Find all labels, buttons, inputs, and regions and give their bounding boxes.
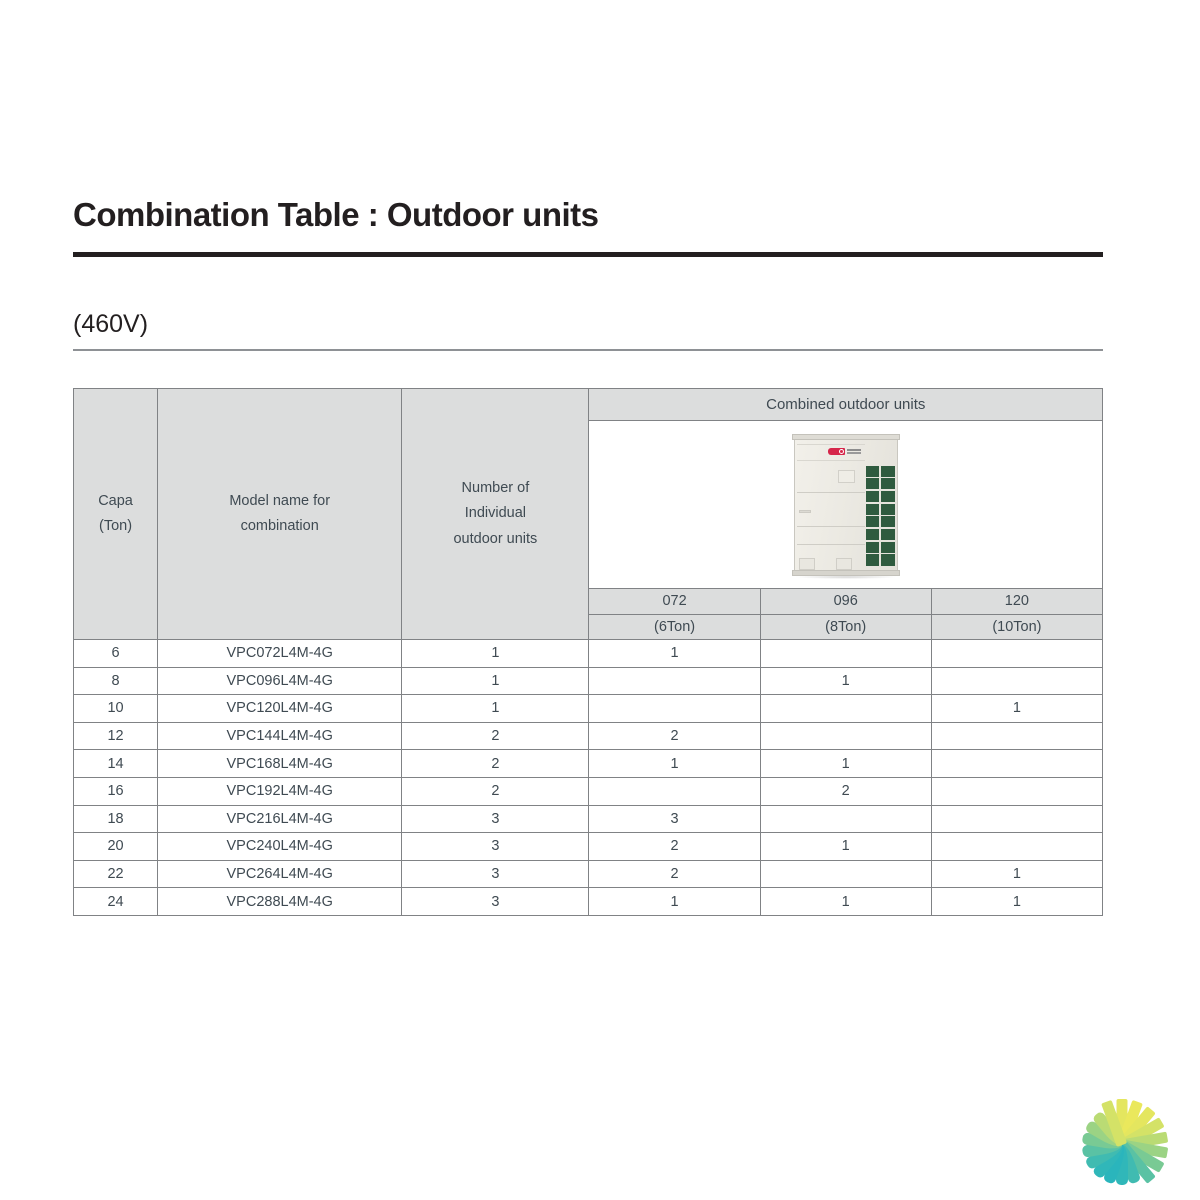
outdoor-unit-photo (790, 434, 902, 576)
unit-access-panel (838, 470, 855, 483)
unit-seam-2 (797, 460, 865, 461)
table-row: 14VPC168L4M-4G211 (74, 750, 1103, 778)
lennox-logo-icon (828, 448, 862, 455)
capacity-cell: 20 (74, 833, 158, 861)
number-label-line2: Individual (402, 501, 588, 526)
model-label-line1: Model name for (158, 489, 401, 514)
combo-072-cell: 2 (589, 722, 760, 750)
table-row: 24VPC288L4M-4G3111 (74, 888, 1103, 916)
voltage-subtitle: (460V) (73, 310, 148, 339)
table-row: 16VPC192L4M-4G22 (74, 777, 1103, 805)
combo-120-cell (931, 777, 1102, 805)
unit-count-cell: 3 (402, 833, 589, 861)
combo-120-cell (931, 805, 1102, 833)
combo-120-cell (931, 750, 1102, 778)
combo-096-cell (760, 860, 931, 888)
capacity-cell: 10 (74, 695, 158, 723)
table-row: 8VPC096L4M-4G11 (74, 667, 1103, 695)
unit-ton-072: (6Ton) (589, 614, 760, 640)
model-name-cell: VPC264L4M-4G (158, 860, 402, 888)
capacity-cell: 24 (74, 888, 158, 916)
unit-count-cell: 1 (402, 695, 589, 723)
column-header-combined-outdoor-units: Combined outdoor units (589, 389, 1103, 421)
unit-handle (799, 510, 811, 513)
table-row: 20VPC240L4M-4G321 (74, 833, 1103, 861)
capacity-cell: 8 (74, 667, 158, 695)
lennox-mark (828, 448, 845, 455)
table-head: Capa (Ton) Model name for combination Nu… (74, 389, 1103, 640)
combo-072-cell: 2 (589, 860, 760, 888)
combo-072-cell (589, 695, 760, 723)
lennox-wordmark (847, 449, 861, 451)
unit-top-panel (792, 434, 900, 440)
combo-096-cell: 2 (760, 777, 931, 805)
model-name-cell: VPC144L4M-4G (158, 722, 402, 750)
outdoor-unit-image-cell (589, 421, 1103, 589)
combo-120-cell (931, 667, 1102, 695)
capacity-label-line1: Capa (74, 489, 157, 514)
unit-base-right (836, 558, 852, 570)
model-name-cell: VPC096L4M-4G (158, 667, 402, 695)
model-name-cell: VPC120L4M-4G (158, 695, 402, 723)
combo-120-cell (931, 833, 1102, 861)
capacity-cell: 6 (74, 640, 158, 668)
combo-072-cell: 2 (589, 833, 760, 861)
unit-count-cell: 3 (402, 860, 589, 888)
unit-panel-line-2 (797, 526, 865, 527)
table-row: 12VPC144L4M-4G22 (74, 722, 1103, 750)
combo-096-cell: 1 (760, 750, 931, 778)
combo-120-cell: 1 (931, 888, 1102, 916)
unit-code-120: 120 (931, 589, 1102, 615)
combo-096-cell (760, 805, 931, 833)
unit-count-cell: 2 (402, 722, 589, 750)
combo-096-cell (760, 722, 931, 750)
subtitle-divider (73, 349, 1103, 351)
model-name-cell: VPC240L4M-4G (158, 833, 402, 861)
unit-heat-exchanger-grille (866, 466, 895, 566)
combo-096-cell: 1 (760, 888, 931, 916)
capacity-cell: 14 (74, 750, 158, 778)
unit-count-cell: 1 (402, 667, 589, 695)
model-name-cell: VPC216L4M-4G (158, 805, 402, 833)
unit-count-cell: 1 (402, 640, 589, 668)
unit-base-left (799, 558, 815, 570)
model-name-cell: VPC192L4M-4G (158, 777, 402, 805)
model-name-cell: VPC288L4M-4G (158, 888, 402, 916)
column-header-capacity: Capa (Ton) (74, 389, 158, 640)
combo-096-cell (760, 695, 931, 723)
number-label-line3: outdoor units (402, 527, 588, 552)
unit-seam-1 (797, 444, 865, 445)
model-name-cell: VPC072L4M-4G (158, 640, 402, 668)
table-row: 6VPC072L4M-4G11 (74, 640, 1103, 668)
combo-072-cell (589, 667, 760, 695)
unit-ton-120: (10Ton) (931, 614, 1102, 640)
column-header-number-of-units: Number of Individual outdoor units (402, 389, 589, 640)
number-label-line1: Number of (402, 476, 588, 501)
combo-072-cell (589, 777, 760, 805)
combo-096-cell: 1 (760, 667, 931, 695)
combo-072-cell: 1 (589, 888, 760, 916)
table-row: 18VPC216L4M-4G33 (74, 805, 1103, 833)
combination-table: Capa (Ton) Model name for combination Nu… (73, 388, 1103, 916)
unit-count-cell: 3 (402, 805, 589, 833)
unit-panel-line-1 (797, 492, 865, 493)
unit-base-rail (792, 570, 900, 576)
combo-072-cell: 1 (589, 750, 760, 778)
combo-120-cell: 1 (931, 860, 1102, 888)
capacity-cell: 12 (74, 722, 158, 750)
combo-096-cell: 1 (760, 833, 931, 861)
combo-096-cell (760, 640, 931, 668)
combo-072-cell: 1 (589, 640, 760, 668)
capacity-cell: 22 (74, 860, 158, 888)
unit-code-096: 096 (760, 589, 931, 615)
capacity-cell: 18 (74, 805, 158, 833)
combo-072-cell: 3 (589, 805, 760, 833)
table-row: 10VPC120L4M-4G11 (74, 695, 1103, 723)
unit-count-cell: 2 (402, 750, 589, 778)
unit-ton-096: (8Ton) (760, 614, 931, 640)
model-label-line2: combination (158, 514, 401, 539)
unit-count-cell: 3 (402, 888, 589, 916)
combo-120-cell: 1 (931, 695, 1102, 723)
table-body: 6VPC072L4M-4G118VPC096L4M-4G1110VPC120L4… (74, 640, 1103, 916)
combo-120-cell (931, 722, 1102, 750)
unit-code-072: 072 (589, 589, 760, 615)
title-divider (73, 252, 1103, 257)
column-header-model-name: Model name for combination (158, 389, 402, 640)
page-title: Combination Table : Outdoor units (73, 196, 599, 234)
header-row-group: Capa (Ton) Model name for combination Nu… (74, 389, 1103, 421)
model-name-cell: VPC168L4M-4G (158, 750, 402, 778)
unit-panel-line-3 (797, 544, 865, 545)
capacity-cell: 16 (74, 777, 158, 805)
starburst-logo (1068, 1096, 1176, 1194)
table-row: 22VPC264L4M-4G321 (74, 860, 1103, 888)
unit-count-cell: 2 (402, 777, 589, 805)
capacity-label-line2: (Ton) (74, 514, 157, 539)
combo-120-cell (931, 640, 1102, 668)
